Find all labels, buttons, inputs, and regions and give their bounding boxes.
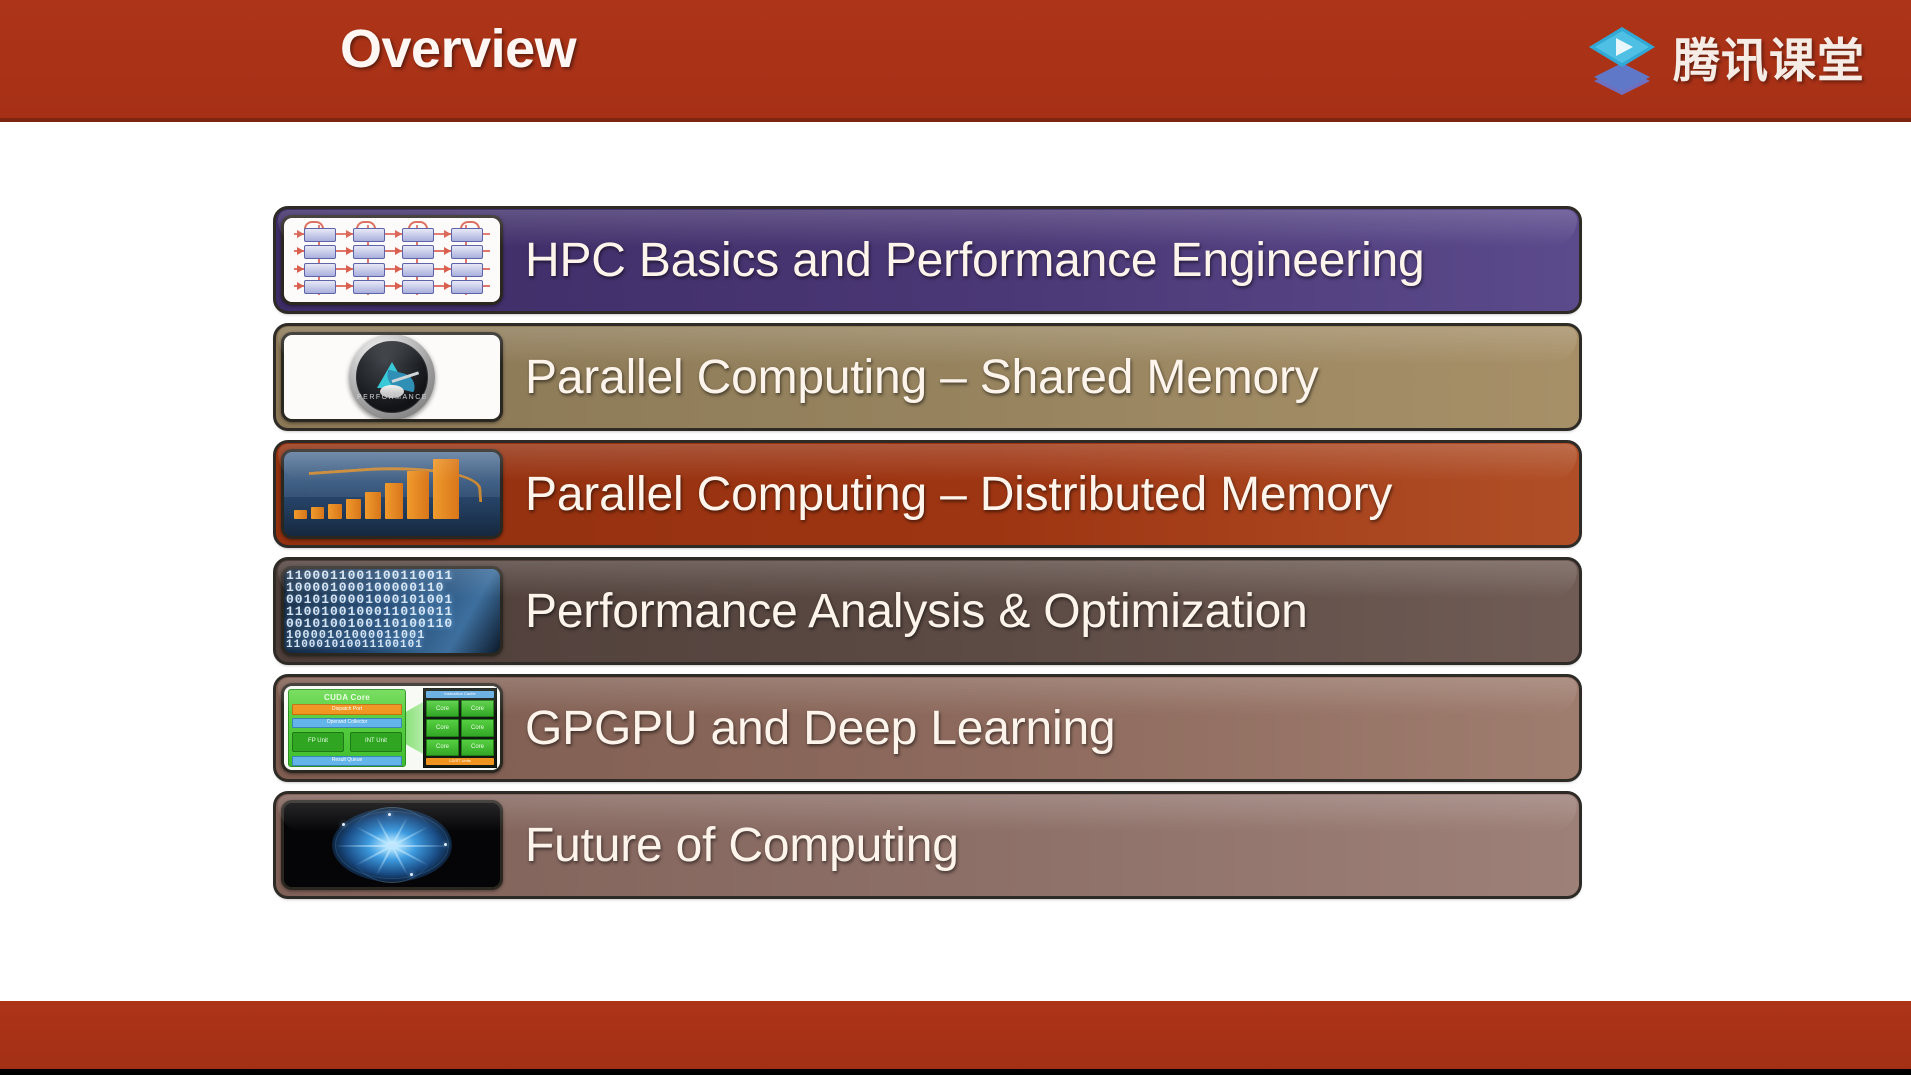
- cuda-grid-foot: LD/ST Units: [426, 758, 494, 765]
- list-item[interactable]: Parallel Computing – Distributed Memory: [275, 442, 1580, 546]
- slide-overview: Overview 腾讯课堂: [0, 0, 1911, 1075]
- list-item[interactable]: HPC Basics and Performance Engineering: [275, 208, 1580, 312]
- list-item[interactable]: 1100011001100110011 100001000100000110 0…: [275, 559, 1580, 663]
- bottom-strip: [0, 1069, 1911, 1075]
- cuda-core-cell: Core: [461, 700, 494, 717]
- cuda-core-cell: Core: [426, 719, 459, 736]
- brand-logo: 腾讯课堂: [1585, 20, 1865, 100]
- cuda-operand-collector: Operand Collector: [292, 718, 402, 728]
- overview-list: HPC Basics and Performance Engineering: [275, 208, 1580, 910]
- cuda-int-unit: INT Unit: [350, 732, 402, 752]
- cuda-title: CUDA Core: [292, 693, 402, 702]
- binary-line: 110001010011100101: [286, 639, 423, 651]
- mesh-network-diagram: [281, 215, 503, 305]
- cuda-core-cell: Core: [461, 719, 494, 736]
- cuda-core-cell: Core: [461, 739, 494, 756]
- binary-digits-image: 1100011001100110011 100001000100000110 0…: [281, 566, 503, 656]
- cuda-core-cell: Core: [426, 700, 459, 717]
- cuda-core-cell: Core: [426, 739, 459, 756]
- cuda-result-queue: Result Queue: [292, 756, 402, 766]
- list-item[interactable]: PERFORMANCE Parallel Computing – Shared …: [275, 325, 1580, 429]
- list-item-label: Future of Computing: [525, 818, 959, 873]
- cuda-dispatch-port: Dispatch Port: [292, 704, 402, 715]
- list-item-label: GPGPU and Deep Learning: [525, 701, 1115, 756]
- slide-footer: 13: [0, 1001, 1911, 1075]
- list-item-label: HPC Basics and Performance Engineering: [525, 233, 1425, 288]
- list-item-label: Parallel Computing – Shared Memory: [525, 350, 1319, 405]
- list-item-label: Parallel Computing – Distributed Memory: [525, 467, 1392, 522]
- graduation-cap-play-icon: [1585, 23, 1659, 97]
- list-item-label: Performance Analysis & Optimization: [525, 584, 1308, 639]
- plasma-network-sphere: [281, 800, 503, 890]
- header-underline: [0, 118, 1911, 122]
- slide-header: Overview 腾讯课堂: [0, 0, 1911, 120]
- list-item[interactable]: CUDA Core Dispatch Port Operand Collecto…: [275, 676, 1580, 780]
- gauge-label: PERFORMANCE: [357, 394, 427, 401]
- performance-speedometer: PERFORMANCE: [281, 332, 503, 422]
- page-title: Overview: [340, 18, 576, 80]
- cuda-core-diagram: CUDA Core Dispatch Port Operand Collecto…: [281, 683, 503, 773]
- cuda-grid-head: Instruction Cache: [426, 691, 494, 698]
- orange-bar-chart: [281, 449, 503, 539]
- cuda-fp-unit: FP Unit: [292, 732, 344, 752]
- brand-name: 腾讯课堂: [1673, 37, 1865, 84]
- list-item[interactable]: Future of Computing: [275, 793, 1580, 897]
